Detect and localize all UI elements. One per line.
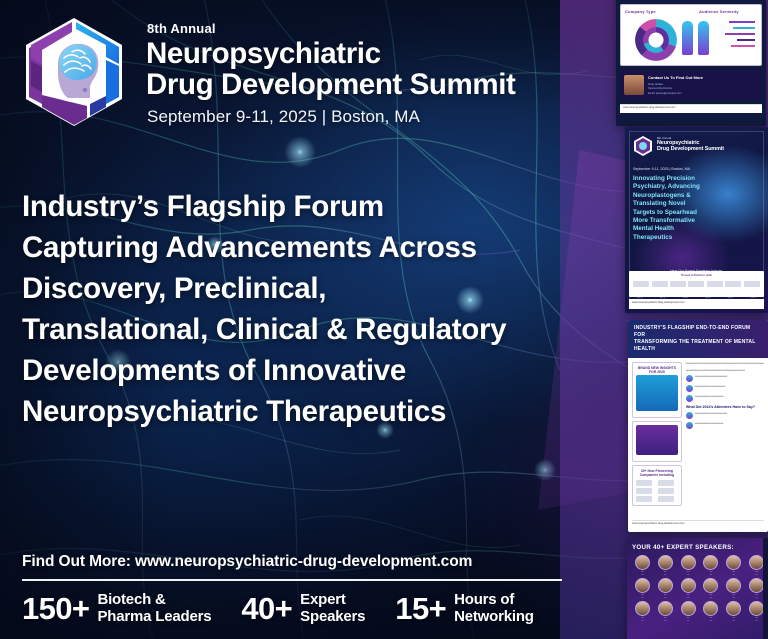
speaker-avatar: [658, 578, 673, 593]
stat-label: Expert Speakers: [300, 591, 365, 625]
cover-footer-bar: www.neuropsychiatric-drug-development.co…: [629, 299, 764, 309]
company-logo: [636, 496, 652, 502]
cover-logo-icon: [633, 135, 653, 157]
speaker-name: •••••••: [655, 594, 676, 599]
event-date-location: September 9-11, 2025 | Boston, MA: [147, 107, 515, 127]
partner-logo-row: [629, 277, 764, 291]
partner-logo: [688, 281, 704, 287]
audience-seniority-title: Audience Seniority: [699, 9, 739, 14]
speaker-item: •••••••: [678, 601, 699, 622]
speaker-item: •••••••: [655, 601, 676, 622]
stat-number: 40+: [241, 593, 292, 624]
speaker-item: •••••••: [701, 555, 722, 576]
contact-name: Amy Jones: [648, 82, 663, 86]
speaker-name: •••••••: [701, 594, 722, 599]
agenda-footer-url: www.neuropsychiatric-drug-development.co…: [632, 521, 764, 525]
company-type-donut-inner: [643, 27, 669, 53]
thumb1-charts-panel: Company Type Audience Seniority: [620, 4, 762, 66]
bullet-icon: [686, 395, 693, 402]
partner-logo: [707, 281, 723, 287]
contact-avatar: [624, 75, 644, 95]
stat-label-line: Pharma Leaders: [97, 608, 211, 625]
footer-block: Find Out More: www.neuropsychiatric-drug…: [22, 553, 602, 625]
stat-label-line: Expert: [300, 591, 365, 608]
speaker-name: •••••••: [723, 571, 744, 576]
event-title-block: 8th Annual Neuropsychiatric Drug Develop…: [144, 17, 515, 127]
speaker-item: •••••••: [632, 601, 653, 622]
speaker-name: •••••••: [678, 617, 699, 622]
thumb1-footer: www.neuropsychiatric-drug-development.co…: [620, 104, 762, 113]
agenda-paragraph: ▪▪▪▪▪▪▪▪▪▪▪▪▪▪▪▪▪▪▪▪▪▪▪▪▪▪▪▪▪▪▪▪▪▪▪▪▪▪▪▪…: [686, 362, 764, 366]
speaker-avatar: [658, 601, 673, 616]
stat-label-line: Networking: [454, 608, 534, 625]
partner-logo: [633, 281, 649, 287]
event-eyebrow: 8th Annual: [147, 21, 515, 36]
speaker-avatar: [726, 601, 741, 616]
company-logo: [658, 496, 674, 502]
speaker-item: •••••••: [723, 601, 744, 622]
event-title-line-1: Neuropsychiatric: [146, 38, 515, 69]
stats-row: 150+ Biotech & Pharma Leaders 40+ Expert…: [22, 591, 602, 625]
agenda-body: BRAND NEW INSIGHTS FOR 2025 30+ New Pion…: [628, 358, 768, 513]
person-icon: [682, 21, 693, 55]
speaker-avatar: [635, 578, 650, 593]
thumb1-footer-url: www.neuropsychiatric-drug-development.co…: [620, 105, 762, 110]
hero-line: Translational, Clinical & Regulatory: [22, 309, 622, 350]
cover-title-block: 8th Annual Neuropsychiatric Drug Develop…: [657, 136, 747, 153]
speakers-grid: ••••••• ••••••• ••••••• ••••••• ••••••• …: [632, 555, 767, 623]
speaker-avatar: [681, 555, 696, 570]
speaker-name: •••••••: [723, 617, 744, 622]
company-logo: [636, 480, 652, 486]
speaker-item: •••••••: [632, 555, 653, 576]
bullet-text: ▪▪▪▪▪▪▪▪▪▪▪▪▪▪▪▪▪▪▪▪▪▪▪▪▪▪▪▪▪▪▪▪: [695, 385, 726, 389]
partner-logo: [670, 281, 686, 287]
agenda-bullet: ▪▪▪▪▪▪▪▪▪▪▪▪▪▪▪▪▪▪▪▪▪▪▪▪▪▪▪▪▪▪▪▪: [686, 385, 764, 392]
speaker-avatar: [658, 555, 673, 570]
speaker-name: •••••••: [678, 594, 699, 599]
contact-role: Sponsorship Director: [648, 87, 672, 90]
cover-title-line-2: Drug Development Summit: [657, 146, 747, 152]
company-logo: [636, 488, 652, 494]
speaker-item: •••••••: [655, 555, 676, 576]
hero-line: Capturing Advancements Across: [22, 227, 622, 268]
hero-line: Developments of Innovative: [22, 350, 622, 391]
speakers-sheet-side-tab: [763, 538, 768, 639]
speaker-avatar: [703, 578, 718, 593]
speaker-item: •••••••: [678, 578, 699, 599]
agenda-bullet: ▪▪▪▪▪▪▪▪▪▪▪▪▪▪▪▪▪▪▪▪▪▪▪▪▪▪▪▪▪▪: [686, 395, 764, 402]
stat-label-line: Speakers: [300, 608, 365, 625]
thumbnail-expert-speakers[interactable]: YOUR 40+ EXPERT SPEAKERS: ••••••• ••••••…: [627, 538, 768, 639]
speaker-name: •••••••: [701, 617, 722, 622]
seniority-bar-list: [713, 21, 755, 51]
bullet-icon: [686, 412, 693, 419]
thumb1-contact-cta[interactable]: Contact Us To Find Out More Amy Jones Sp…: [620, 70, 762, 100]
agenda-header-bar: INDUSTRY’S FLAGSHIP END-TO-END FORUM FOR…: [628, 320, 768, 358]
speaker-avatar: [635, 555, 650, 570]
bullet-icon: [686, 375, 693, 382]
stat-item: 150+ Biotech & Pharma Leaders: [22, 591, 211, 625]
bullet-icon: [686, 385, 693, 392]
hero-line: Neuropsychiatric Therapeutics: [22, 391, 622, 432]
find-out-more-link[interactable]: Find Out More: www.neuropsychiatric-drug…: [22, 553, 602, 571]
speaker-name: •••••••: [632, 617, 653, 622]
speaker-avatar: [726, 555, 741, 570]
summit-promo-banner: 8th Annual Neuropsychiatric Drug Develop…: [0, 0, 768, 639]
speaker-name: •••••••: [723, 594, 744, 599]
speaker-avatar: [681, 578, 696, 593]
event-title-line-2: Drug Development Summit: [146, 69, 515, 100]
speaker-avatar: [703, 555, 718, 570]
contact-email: Email: ajones@example.com: [648, 92, 682, 95]
stat-number: 150+: [22, 593, 89, 624]
stat-number: 15+: [395, 593, 446, 624]
agenda-question: What Did 2024’s Attendees Have to Say?: [686, 405, 764, 409]
hero-line: Discovery, Preclinical,: [22, 268, 622, 309]
bullet-text: ▪▪▪▪▪▪▪▪▪▪▪▪▪▪▪▪▪▪▪▪▪▪▪▪▪▪▪▪▪▪: [695, 395, 724, 399]
new-companies-title: 30+ New Pioneering Companies Including: [636, 469, 678, 478]
person-icon: [698, 21, 709, 55]
thumbnail-attendee-breakdown[interactable]: Company Type Audience Seniority: [616, 0, 766, 126]
speaker-avatar: [681, 601, 696, 616]
agenda-sidebar: BRAND NEW INSIGHTS FOR 2025 30+ New Pion…: [632, 362, 682, 509]
speaker-avatar: [749, 578, 764, 593]
document-thumbnail-stack: Company Type Audience Seniority: [560, 0, 768, 639]
stat-label-line: Biotech &: [97, 591, 211, 608]
speaker-item: •••••••: [655, 578, 676, 599]
agenda-sidebar-title: BRAND NEW INSIGHTS FOR 2025: [636, 366, 678, 375]
stat-item: 40+ Expert Speakers: [241, 591, 365, 625]
speaker-name: •••••••: [655, 571, 676, 576]
agenda-paragraph: ▪▪▪▪▪▪▪▪▪▪▪▪▪▪▪▪▪▪▪▪▪▪▪▪▪▪▪▪▪▪▪▪▪▪▪▪▪▪▪▪…: [686, 369, 764, 373]
cover-headline: Innovating Precision Psychiatry, Advanci…: [633, 175, 709, 242]
agenda-header-line-2: TRANSFORMING THE TREATMENT OF MENTAL HEA…: [634, 339, 762, 353]
speaker-name: •••••••: [678, 571, 699, 576]
stat-label-line: Hours of: [454, 591, 534, 608]
speaker-avatar: [703, 601, 718, 616]
hero-line: Industry’s Flagship Forum: [22, 186, 622, 227]
speaker-item: •••••••: [678, 555, 699, 576]
cover-date: September 9-11, 2025 | Boston, MA: [633, 167, 690, 171]
speakers-sheet-title: YOUR 40+ EXPERT SPEAKERS:: [632, 544, 767, 551]
speaker-avatar: [635, 601, 650, 616]
speaker-name: •••••••: [655, 617, 676, 622]
brain-head-hexagon-logo: [18, 12, 130, 132]
agenda-blue-block: [636, 375, 678, 411]
speaker-item: •••••••: [701, 601, 722, 622]
agenda-sidebar-card: 30+ New Pioneering Companies Including: [632, 465, 682, 506]
agenda-sidebar-card: [632, 421, 682, 462]
speaker-name: •••••••: [632, 594, 653, 599]
speaker-name: •••••••: [701, 571, 722, 576]
cover-partners-panel: Proud to Partner with: [629, 271, 764, 297]
stat-label: Biotech & Pharma Leaders: [97, 591, 211, 625]
thumbnail-agenda-highlights[interactable]: INDUSTRY’S FLAGSHIP END-TO-END FORUM FOR…: [628, 320, 768, 532]
company-logo: [658, 480, 674, 486]
agenda-sidebar-card: BRAND NEW INSIGHTS FOR 2025: [632, 362, 682, 418]
cover-footer-url: www.neuropsychiatric-drug-development.co…: [629, 299, 764, 306]
speaker-name: •••••••: [632, 571, 653, 576]
agenda-header-line-1: INDUSTRY’S FLAGSHIP END-TO-END FORUM FOR: [634, 325, 762, 339]
agenda-bullet: ▪▪▪▪▪▪▪▪▪▪▪▪▪▪▪▪▪▪▪▪▪▪▪▪▪▪▪▪▪▪: [686, 422, 764, 429]
thumbnail-brochure-cover[interactable]: 8th Annual Neuropsychiatric Drug Develop…: [625, 127, 768, 313]
stat-label: Hours of Networking: [454, 591, 534, 625]
speaker-item: •••••••: [701, 578, 722, 599]
bullet-icon: [686, 422, 693, 429]
partner-logo: [725, 281, 741, 287]
bullet-text: ▪▪▪▪▪▪▪▪▪▪▪▪▪▪▪▪▪▪▪▪▪▪▪▪▪▪▪▪▪▪: [695, 422, 724, 426]
agenda-bullet: ▪▪▪▪▪▪▪▪▪▪▪▪▪▪▪▪▪▪▪▪▪▪▪▪▪▪▪▪▪▪▪▪▪▪: [686, 375, 764, 382]
speaker-item: •••••••: [723, 555, 744, 576]
agenda-purple-block: [636, 425, 678, 455]
speaker-avatar: [749, 601, 764, 616]
hero-headline: Industry’s Flagship Forum Capturing Adva…: [22, 186, 622, 432]
agenda-content: ▪▪▪▪▪▪▪▪▪▪▪▪▪▪▪▪▪▪▪▪▪▪▪▪▪▪▪▪▪▪▪▪▪▪▪▪▪▪▪▪…: [686, 362, 764, 509]
bullet-text: ▪▪▪▪▪▪▪▪▪▪▪▪▪▪▪▪▪▪▪▪▪▪▪▪▪▪▪▪▪▪▪▪▪▪: [695, 412, 727, 416]
speaker-item: •••••••: [632, 578, 653, 599]
agenda-bullet: ▪▪▪▪▪▪▪▪▪▪▪▪▪▪▪▪▪▪▪▪▪▪▪▪▪▪▪▪▪▪▪▪▪▪: [686, 412, 764, 419]
agenda-footer: www.neuropsychiatric-drug-development.co…: [632, 520, 764, 529]
footer-divider: [22, 579, 562, 581]
speaker-avatar: [726, 578, 741, 593]
event-header: 8th Annual Neuropsychiatric Drug Develop…: [18, 12, 515, 132]
stat-item: 15+ Hours of Networking: [395, 591, 533, 625]
speaker-avatar: [749, 555, 764, 570]
contact-cta-title: Contact Us To Find Out More: [648, 75, 703, 80]
audience-figure-icons: [682, 21, 709, 55]
company-logo: [658, 488, 674, 494]
speaker-item: •••••••: [723, 578, 744, 599]
partner-logo: [744, 281, 760, 287]
partner-logo: [652, 281, 668, 287]
bullet-text: ▪▪▪▪▪▪▪▪▪▪▪▪▪▪▪▪▪▪▪▪▪▪▪▪▪▪▪▪▪▪▪▪▪▪: [695, 375, 727, 379]
